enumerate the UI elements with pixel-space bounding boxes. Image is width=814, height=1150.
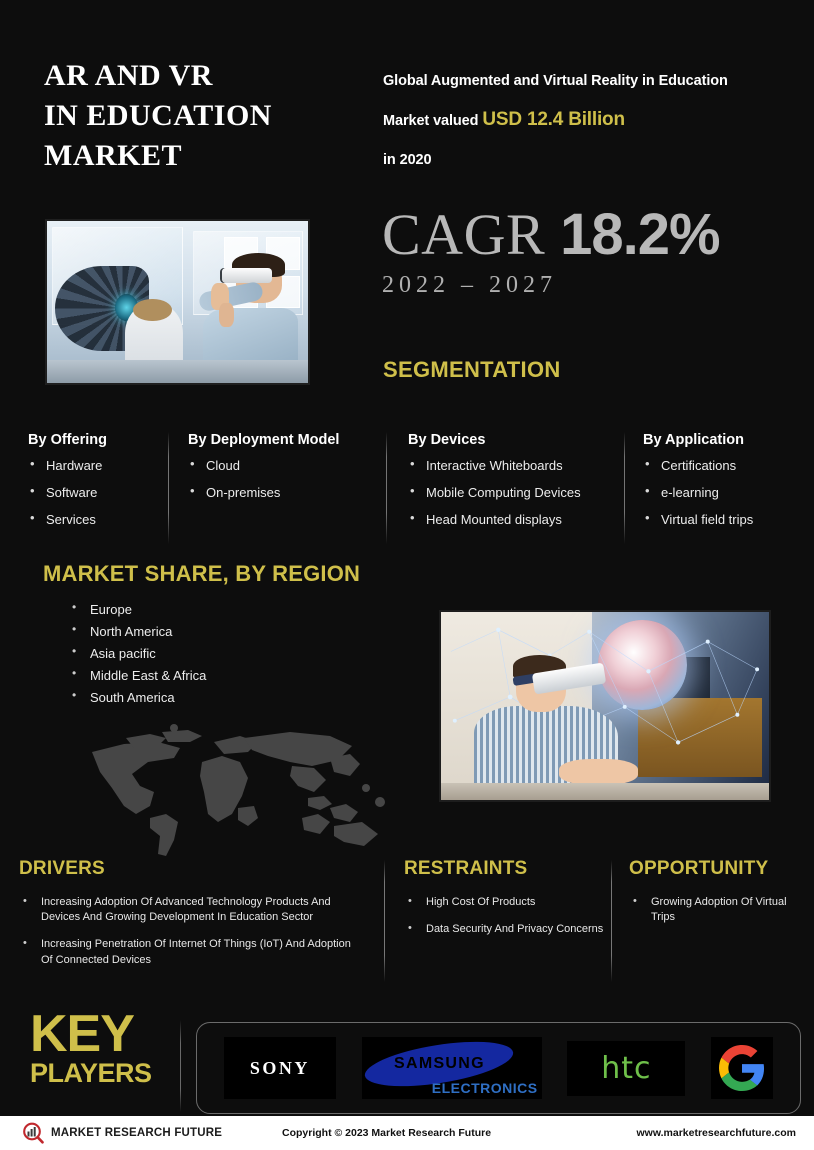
- headline-block: Global Augmented and Virtual Reality in …: [383, 64, 783, 177]
- photo-scene: [441, 612, 769, 800]
- segmentation-divider-2: [386, 432, 387, 544]
- segment-list: Cloud On-premises: [188, 459, 383, 499]
- key-players-label-bottom: PLAYERS: [30, 1059, 180, 1089]
- list-item: Head Mounted displays: [408, 513, 653, 526]
- htc-logo-text: htc: [601, 1051, 651, 1086]
- segment-list: Certifications e-learning Virtual field …: [643, 459, 803, 526]
- cagr-period: 2022 – 2027: [382, 272, 720, 299]
- list-item: Software: [28, 486, 168, 499]
- cagr-label: CAGR: [382, 202, 545, 267]
- list-item: Increasing Adoption Of Advanced Technolo…: [19, 895, 364, 925]
- headline-line-3: in 2020: [383, 143, 783, 177]
- key-players-divider: [180, 1020, 181, 1112]
- market-research-future-logo-icon: [22, 1122, 44, 1144]
- key-players-logo-box: SONY SAMSUNG ELECTRONICS htc: [196, 1022, 801, 1114]
- samsung-logo-text: SAMSUNG: [393, 1055, 484, 1073]
- world-map-icon: [62, 722, 392, 862]
- list-item: Increasing Penetration Of Internet Of Th…: [19, 937, 364, 967]
- list-item: Data Security And Privacy Concerns: [404, 922, 619, 937]
- title-line-1: AR AND VR: [44, 56, 364, 96]
- segment-column-devices: By Devices Interactive Whiteboards Mobil…: [408, 432, 653, 540]
- cagr-value: 18.2%: [560, 202, 719, 267]
- vr-headset-icon: [222, 268, 273, 284]
- opportunity-column: OPPORTUNITY Growing Adoption Of Virtual …: [629, 858, 809, 937]
- drivers-heading: DRIVERS: [19, 858, 364, 880]
- samsung-logo: SAMSUNG ELECTRONICS: [362, 1037, 542, 1099]
- google-g-icon: [719, 1045, 765, 1091]
- list-item: North America: [68, 625, 206, 638]
- opportunity-list: Growing Adoption Of Virtual Trips: [629, 895, 809, 925]
- market-value: USD 12.4 Billion: [482, 109, 625, 130]
- list-item: Growing Adoption Of Virtual Trips: [629, 895, 809, 925]
- restraints-heading: RESTRAINTS: [404, 858, 619, 880]
- list-item: Middle East & Africa: [68, 669, 206, 682]
- boy-hands: [559, 759, 638, 785]
- segmentation-divider-1: [168, 432, 169, 544]
- infographic-page: AR AND VR IN EDUCATION MARKET Global Aug…: [0, 0, 814, 1150]
- drivers-list: Increasing Adoption Of Advanced Technolo…: [19, 895, 364, 968]
- region-list: Europe North America Asia pacific Middle…: [68, 603, 206, 713]
- sony-logo: SONY: [224, 1037, 336, 1099]
- list-item: Mobile Computing Devices: [408, 486, 653, 499]
- segment-list: Interactive Whiteboards Mobile Computing…: [408, 459, 653, 526]
- drivers-column: DRIVERS Increasing Adoption Of Advanced …: [19, 858, 364, 980]
- headline-prefix: Market valued: [383, 113, 478, 129]
- boy-vr-photo: [439, 610, 771, 802]
- segmentation-title: SEGMENTATION: [383, 357, 561, 383]
- headline-line-1: Global Augmented and Virtual Reality in …: [383, 64, 783, 98]
- segment-heading: By Deployment Model: [188, 432, 383, 448]
- segment-list: Hardware Software Services: [28, 459, 168, 526]
- segment-heading: By Devices: [408, 432, 653, 448]
- restraints-column: RESTRAINTS High Cost Of Products Data Se…: [404, 858, 619, 949]
- restraints-list: High Cost Of Products Data Security And …: [404, 895, 619, 937]
- list-item: South America: [68, 691, 206, 704]
- photo-scene: [47, 221, 308, 383]
- market-factors: DRIVERS Increasing Adoption Of Advanced …: [14, 858, 804, 988]
- list-item: e-learning: [643, 486, 803, 499]
- key-players-label: KEY PLAYERS: [30, 1011, 180, 1089]
- segment-column-offering: By Offering Hardware Software Services: [28, 432, 168, 540]
- office-desk: [47, 360, 308, 383]
- vr-worker-photo: [45, 219, 310, 385]
- list-item: Virtual field trips: [643, 513, 803, 526]
- segmentation-columns: By Offering Hardware Software Services B…: [28, 432, 788, 547]
- list-item: High Cost Of Products: [404, 895, 619, 910]
- cagr-block: CAGR 18.2% 2022 – 2027: [382, 206, 720, 299]
- title-line-2: IN EDUCATION: [44, 96, 364, 136]
- footer-brand-text: MARKET RESEARCH FUTURE: [51, 1127, 222, 1139]
- list-item: Asia pacific: [68, 647, 206, 660]
- segment-heading: By Offering: [28, 432, 168, 448]
- list-item: Services: [28, 513, 168, 526]
- sony-logo-text: SONY: [250, 1058, 310, 1079]
- footer-copyright: Copyright © 2023 Market Research Future: [282, 1127, 491, 1139]
- title-line-3: MARKET: [44, 136, 364, 176]
- footer-bar: MARKET RESEARCH FUTURE Copyright © 2023 …: [0, 1116, 814, 1150]
- segment-heading: By Application: [643, 432, 803, 448]
- headline-line-2: Market valued USD 12.4 Billion: [383, 98, 783, 143]
- market-share-region-title: MARKET SHARE, BY REGION: [43, 561, 360, 587]
- list-item: Hardware: [28, 459, 168, 472]
- factors-divider-1: [384, 860, 385, 982]
- cagr-headline: CAGR 18.2%: [382, 206, 720, 264]
- footer-brand: MARKET RESEARCH FUTURE: [22, 1122, 222, 1144]
- list-item: Europe: [68, 603, 206, 616]
- room-floor: [441, 783, 769, 800]
- list-item: Cloud: [188, 459, 383, 472]
- opportunity-heading: OPPORTUNITY: [629, 858, 809, 880]
- vr-user-hand-2: [219, 303, 234, 328]
- htc-logo: htc: [567, 1041, 685, 1096]
- footer-url[interactable]: www.marketresearchfuture.com: [636, 1127, 796, 1139]
- list-item: On-premises: [188, 486, 383, 499]
- key-players-label-top: KEY: [30, 1011, 180, 1059]
- segment-column-deployment-model: By Deployment Model Cloud On-premises: [188, 432, 383, 513]
- samsung-logo-subtext: ELECTRONICS: [432, 1080, 538, 1096]
- google-logo: [711, 1037, 773, 1099]
- list-item: Interactive Whiteboards: [408, 459, 653, 472]
- page-title: AR AND VR IN EDUCATION MARKET: [44, 56, 364, 176]
- list-item: Certifications: [643, 459, 803, 472]
- segment-column-application: By Application Certifications e-learning…: [643, 432, 803, 540]
